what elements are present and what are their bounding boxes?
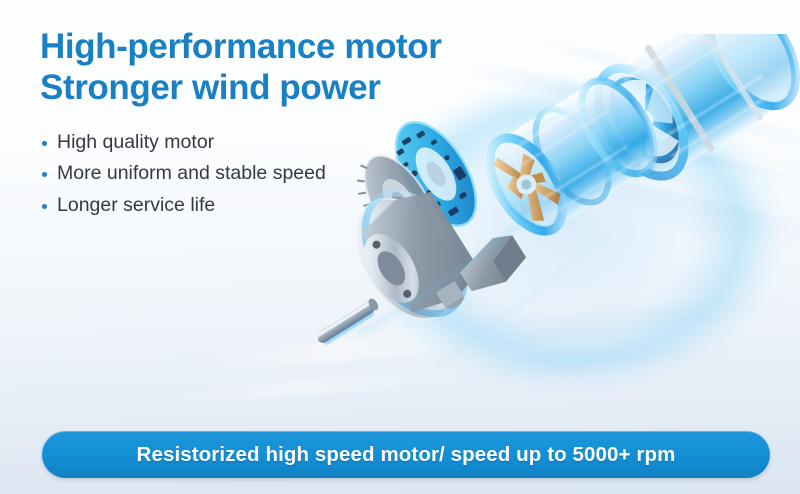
output-shaft (318, 297, 382, 348)
feature-label: Longer service life (57, 194, 215, 216)
callout-banner: Resistorized high speed motor/ speed up … (42, 431, 770, 478)
headline-line-2: Stronger wind power (40, 67, 470, 108)
feature-label: More uniform and stable speed (57, 162, 326, 184)
page-title: High-performance motor Stronger wind pow… (40, 26, 470, 109)
list-item: More uniform and stable speed (40, 158, 470, 190)
product-banner: High-performance motor Stronger wind pow… (0, 0, 800, 494)
list-item: Longer service life (40, 190, 470, 222)
callout-text: Resistorized high speed motor/ speed up … (137, 443, 676, 467)
copy-block: High-performance motor Stronger wind pow… (40, 26, 470, 221)
headline-line-1: High-performance motor (40, 27, 442, 66)
list-item: High quality motor (40, 127, 470, 159)
feature-list: High quality motor More uniform and stab… (40, 127, 470, 222)
feature-label: High quality motor (57, 131, 214, 153)
